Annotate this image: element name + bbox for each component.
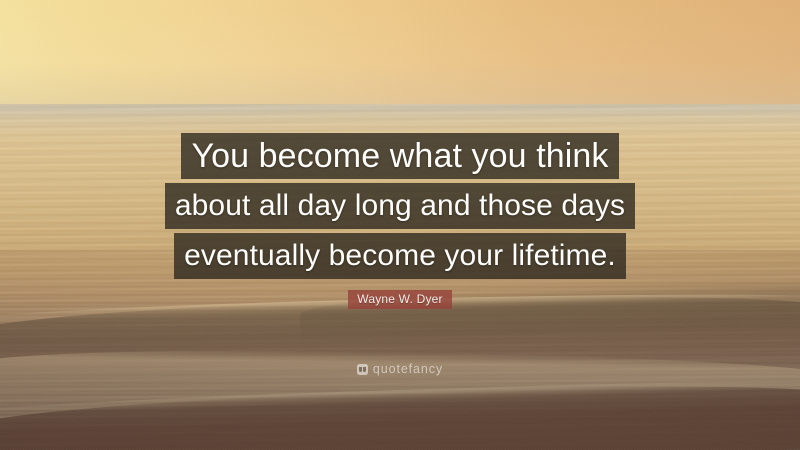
quote-line-row-3: eventually become your lifetime. xyxy=(0,233,800,279)
quote-poster: You become what you think about all day … xyxy=(0,0,800,450)
quote-line-row-2: about all day long and those days xyxy=(0,183,800,229)
quote-line-row-1: You become what you think xyxy=(0,133,800,179)
watermark: quotefancy xyxy=(0,363,800,376)
quote-line-2: about all day long and those days xyxy=(165,183,635,229)
watermark-brand-label: quotefancy xyxy=(373,363,443,376)
water-warm-wash xyxy=(0,250,800,450)
attribution-row: Wayne W. Dyer xyxy=(0,290,800,309)
quote-block: You become what you think about all day … xyxy=(0,133,800,279)
quote-line-3: eventually become your lifetime. xyxy=(174,233,626,279)
sky-gradient xyxy=(0,0,800,112)
quote-author: Wayne W. Dyer xyxy=(348,290,452,309)
quotefancy-logo-icon xyxy=(357,364,368,375)
quote-line-1: You become what you think xyxy=(181,133,618,179)
